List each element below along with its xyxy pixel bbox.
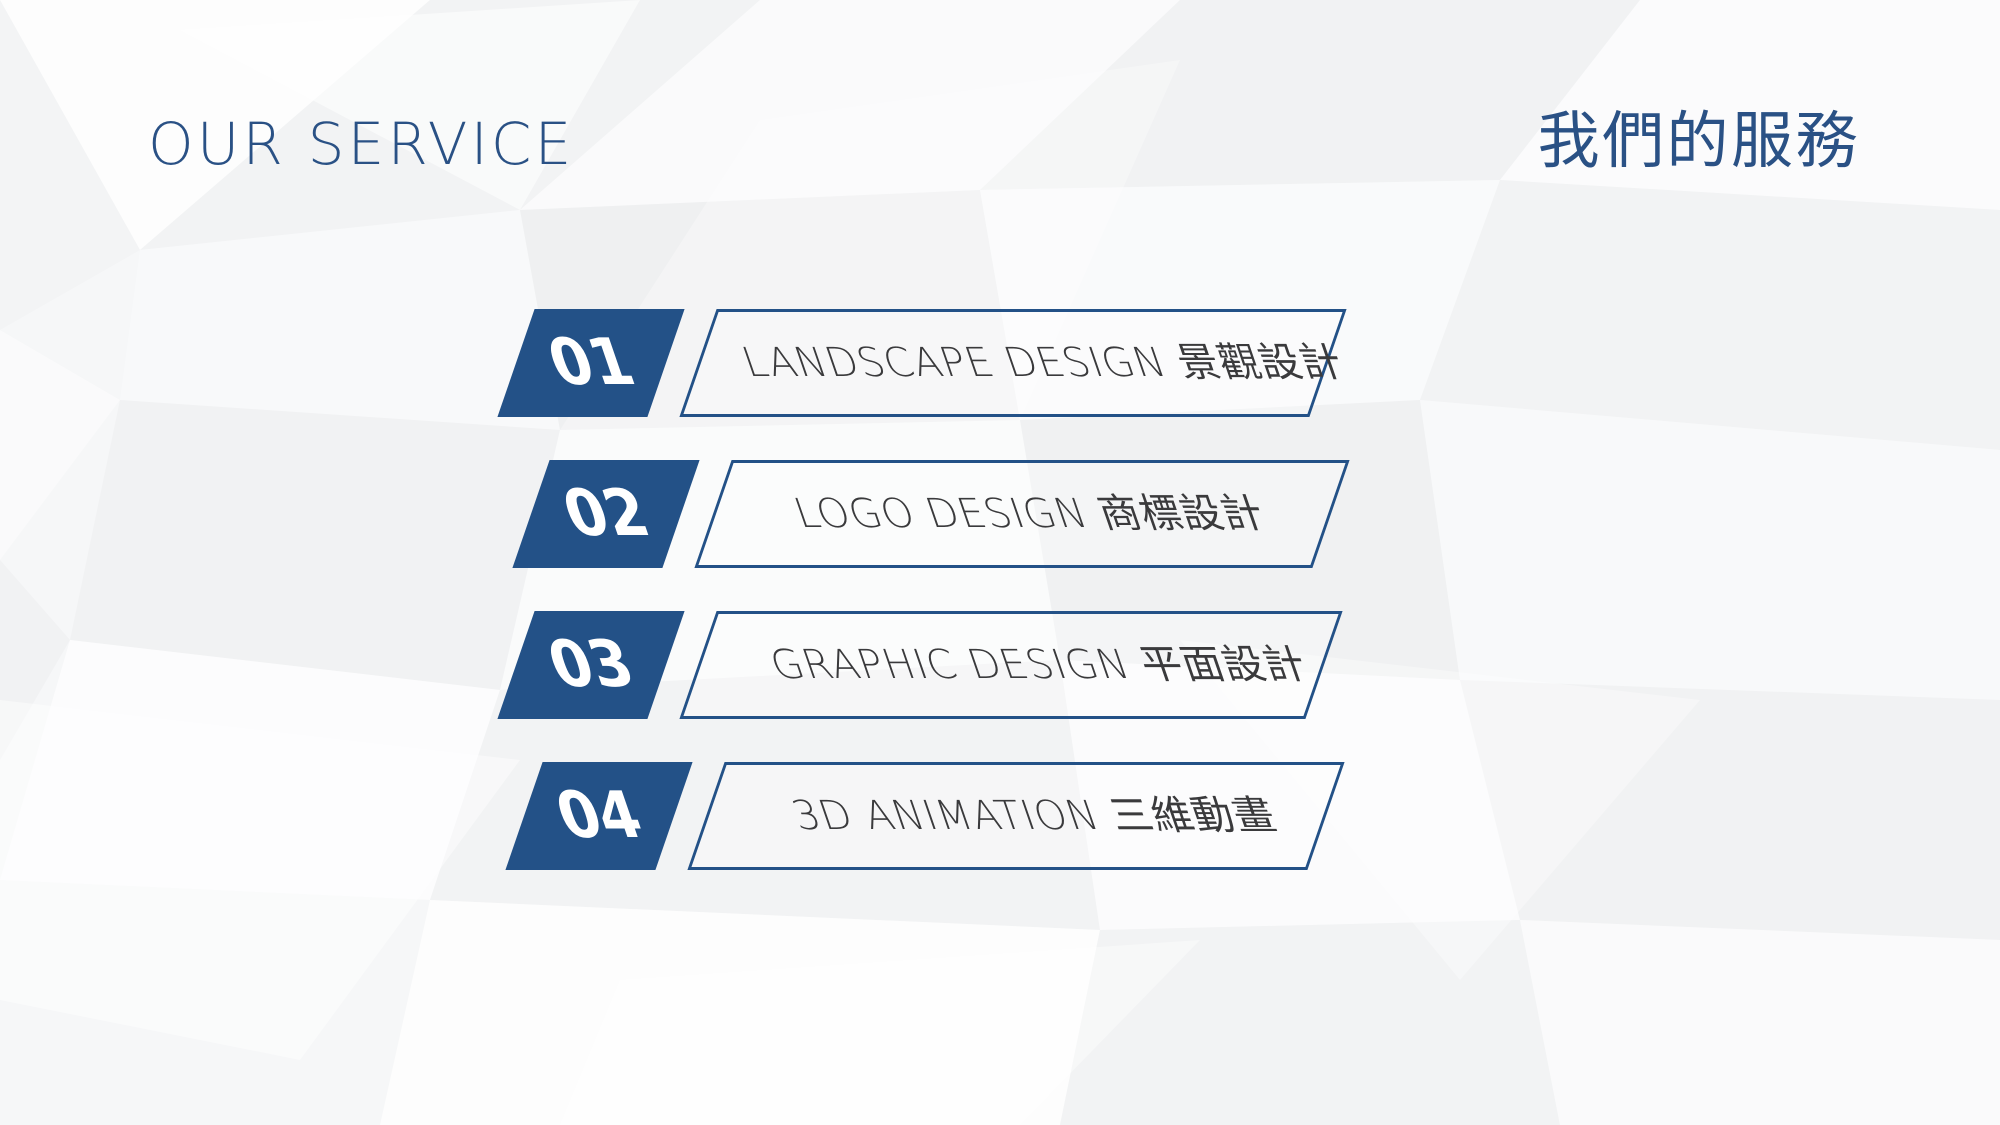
- service-slide: OUR SERVICE 我們的服務 01 LANDSCAPE DESIGN 景觀…: [0, 0, 2000, 1125]
- service-list: 01 LANDSCAPE DESIGN 景觀設計 02 LOGO DESIGN …: [0, 0, 2000, 1125]
- service-label: GRAPHIC DESIGN 平面設計: [753, 611, 1370, 719]
- service-label: 3D ANIMATION 三維動畫: [775, 762, 1372, 870]
- service-label: LOGO DESIGN 商標設計: [777, 460, 1374, 568]
- service-label: LANDSCAPE DESIGN 景觀設計: [725, 309, 1382, 417]
